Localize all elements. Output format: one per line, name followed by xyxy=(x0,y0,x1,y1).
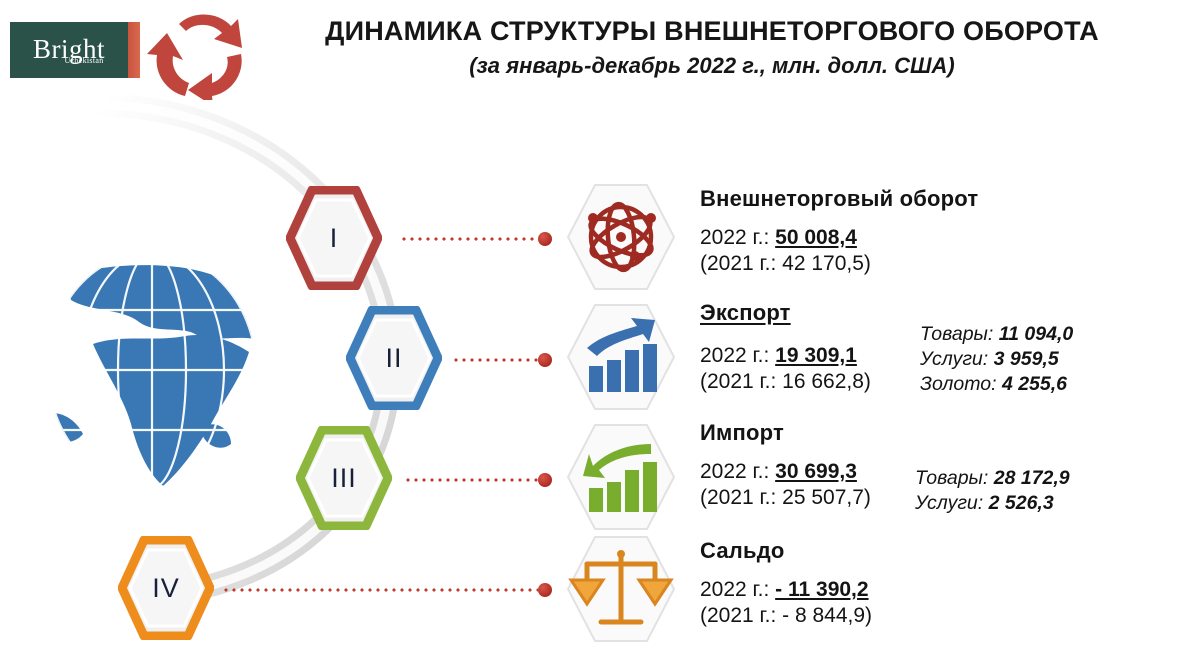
step-heading: Внешнеторговый оборот xyxy=(700,186,978,212)
step-badge-4[interactable]: IV xyxy=(118,536,214,640)
step-current-row: 2022 г.: 50 008,4 xyxy=(700,226,978,250)
step-heading: Экспорт xyxy=(700,300,871,326)
step-current-row: 2022 г.: - 11 390,2 xyxy=(700,578,872,602)
globe-icon xyxy=(35,248,270,493)
connector-dot xyxy=(538,232,552,246)
breakdown-item: Товары: 28 172,9 xyxy=(915,466,1070,491)
balance-scales-icon xyxy=(565,534,677,644)
breakdown-label: Услуги: xyxy=(920,348,988,370)
brand-subtitle: Uzbekistan xyxy=(65,56,104,65)
breakdown-label: Услуги: xyxy=(915,492,983,514)
breakdown-item: Услуги: 2 526,3 xyxy=(915,491,1070,516)
breakdown-label: Товары: xyxy=(920,323,993,345)
step-icon-badge-2[interactable] xyxy=(565,302,677,412)
step-text-2: Экспорт 2022 г.: 19 309,1 (2021 г.: 16 6… xyxy=(700,300,871,394)
brand-logo: Bright Uzbekistan xyxy=(10,22,128,78)
step-heading: Сальдо xyxy=(700,538,872,564)
breakdown-item: Услуги: 3 959,5 xyxy=(920,347,1073,372)
dotted-line xyxy=(404,478,538,482)
step-numeral: IV xyxy=(118,536,214,640)
header-titles: ДИНАМИКА СТРУКТУРЫ ВНЕШНЕТОРГОВОГО ОБОРО… xyxy=(262,16,1162,79)
step-icon-badge-3[interactable] xyxy=(565,422,677,532)
step-numeral: III xyxy=(296,426,392,530)
previous-value: (2021 г.: 16 662,8) xyxy=(700,370,871,393)
breakdown-value: 28 172,9 xyxy=(994,467,1070,489)
connector-3 xyxy=(404,478,552,482)
atom-orbit-icon xyxy=(565,182,677,292)
current-value: 19 309,1 xyxy=(775,344,857,367)
page-title: ДИНАМИКА СТРУКТУРЫ ВНЕШНЕТОРГОВОГО ОБОРО… xyxy=(262,16,1162,47)
connector-dot xyxy=(538,583,552,597)
current-label: 2022 г.: xyxy=(700,344,775,367)
step-icon-badge-4[interactable] xyxy=(565,534,677,644)
current-label: 2022 г.: xyxy=(700,578,775,601)
breakdown-item: Товары: 11 094,0 xyxy=(920,322,1073,347)
step-breakdown-2: Товары: 11 094,0 Услуги: 3 959,5 Золото:… xyxy=(920,322,1073,397)
previous-value: (2021 г.: - 8 844,9) xyxy=(700,604,872,627)
step-numeral: I xyxy=(286,186,382,290)
step-breakdown-3: Товары: 28 172,9 Услуги: 2 526,3 xyxy=(915,466,1070,516)
page-subtitle: (за январь-декабрь 2022 г., млн. долл. С… xyxy=(262,53,1162,79)
connector-dot xyxy=(538,473,552,487)
infographic-canvas: Bright Uzbekistan ДИНАМИКА СТРУКТУРЫ ВНЕ… xyxy=(0,0,1200,670)
connector-dot xyxy=(538,353,552,367)
breakdown-value: 4 255,6 xyxy=(1002,373,1067,395)
bar-chart-incoming-icon xyxy=(565,422,677,532)
step-text-1: Внешнеторговый оборот 2022 г.: 50 008,4 … xyxy=(700,186,978,276)
dotted-line xyxy=(452,358,538,362)
connector-2 xyxy=(452,358,552,362)
step-badge-2[interactable]: II xyxy=(346,306,442,410)
recycle-arrows-icon xyxy=(145,8,257,100)
dotted-line xyxy=(400,237,538,241)
current-label: 2022 г.: xyxy=(700,226,775,249)
connector-1 xyxy=(400,237,552,241)
current-value: - 11 390,2 xyxy=(775,578,868,601)
breakdown-value: 11 094,0 xyxy=(999,323,1073,345)
breakdown-label: Золото: xyxy=(920,373,997,395)
current-value: 50 008,4 xyxy=(775,226,857,249)
breakdown-label: Товары: xyxy=(915,467,988,489)
step-numeral: II xyxy=(346,306,442,410)
step-badge-3[interactable]: III xyxy=(296,426,392,530)
step-heading: Импорт xyxy=(700,420,871,446)
bar-chart-up-icon xyxy=(565,302,677,412)
step-current-row: 2022 г.: 19 309,1 xyxy=(700,344,871,368)
step-previous-row: (2021 г.: 42 170,5) xyxy=(700,252,978,276)
breakdown-value: 3 959,5 xyxy=(994,348,1059,370)
dotted-line xyxy=(222,588,538,592)
step-text-4: Сальдо 2022 г.: - 11 390,2 (2021 г.: - 8… xyxy=(700,538,872,628)
previous-value: (2021 г.: 25 507,7) xyxy=(700,486,871,509)
step-current-row: 2022 г.: 30 699,3 xyxy=(700,460,871,484)
step-text-3: Импорт 2022 г.: 30 699,3 (2021 г.: 25 50… xyxy=(700,420,871,510)
current-value: 30 699,3 xyxy=(775,460,857,483)
step-previous-row: (2021 г.: 16 662,8) xyxy=(700,370,871,394)
step-badge-1[interactable]: I xyxy=(286,186,382,290)
step-previous-row: (2021 г.: - 8 844,9) xyxy=(700,604,872,628)
previous-value: (2021 г.: 42 170,5) xyxy=(700,252,871,275)
current-label: 2022 г.: xyxy=(700,460,775,483)
step-previous-row: (2021 г.: 25 507,7) xyxy=(700,486,871,510)
connector-4 xyxy=(222,588,552,592)
breakdown-value: 2 526,3 xyxy=(989,492,1054,514)
step-icon-badge-1[interactable] xyxy=(565,182,677,292)
breakdown-item: Золото: 4 255,6 xyxy=(920,372,1073,397)
